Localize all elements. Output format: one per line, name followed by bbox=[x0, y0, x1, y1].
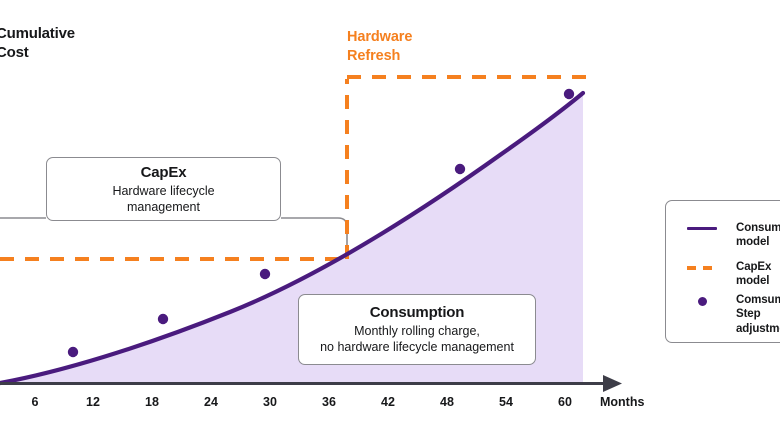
x-tick-label: 30 bbox=[263, 395, 277, 409]
x-tick-label: 18 bbox=[145, 395, 159, 409]
dot-swatch-icon bbox=[684, 293, 726, 309]
step-marker bbox=[158, 314, 168, 324]
capex-callout-subtitle: Hardware lifecycle management bbox=[112, 183, 214, 215]
x-axis-arrow bbox=[603, 375, 622, 392]
chart-canvas: Cumulative Cost Hardware Refresh CapEx H… bbox=[0, 0, 780, 432]
capex-callout: CapEx Hardware lifecycle management bbox=[46, 157, 281, 221]
legend-item-label: CapEx model bbox=[736, 260, 780, 289]
x-tick-label: 48 bbox=[440, 395, 454, 409]
legend-item-capex-model: CapEx model bbox=[684, 260, 780, 289]
consumption-callout-title: Consumption bbox=[370, 304, 464, 321]
hardware-refresh-label: Hardware Refresh bbox=[347, 28, 412, 66]
step-marker bbox=[564, 89, 574, 99]
x-tick-label: 36 bbox=[322, 395, 336, 409]
legend-item-label: Comsumption Step adjustment bbox=[736, 293, 780, 336]
x-tick-label: 42 bbox=[381, 395, 395, 409]
legend-item-step-adjustment: Comsumption Step adjustment bbox=[684, 293, 780, 336]
x-tick-label: 12 bbox=[86, 395, 100, 409]
solid-line-swatch-icon bbox=[684, 221, 726, 237]
consumption-callout-subtitle: Monthly rolling charge, no hardware life… bbox=[320, 323, 514, 355]
x-tick-label: 24 bbox=[204, 395, 218, 409]
consumption-callout: Consumption Monthly rolling charge, no h… bbox=[298, 294, 536, 365]
step-marker bbox=[455, 164, 465, 174]
x-tick-label: 6 bbox=[32, 395, 39, 409]
legend-item-consumption-model: Consumption model bbox=[684, 221, 780, 250]
x-tick-label: 60 bbox=[558, 395, 572, 409]
step-marker bbox=[68, 347, 78, 357]
chart-legend: Consumption model CapEx model Comsumptio… bbox=[665, 200, 780, 343]
step-marker bbox=[260, 269, 270, 279]
x-axis-title: Months bbox=[600, 395, 644, 409]
y-axis-title: Cumulative Cost bbox=[0, 25, 75, 63]
legend-item-label: Consumption model bbox=[736, 221, 780, 250]
capex-connector-right bbox=[281, 218, 347, 252]
capex-callout-title: CapEx bbox=[141, 164, 187, 181]
dashed-line-swatch-icon bbox=[684, 260, 726, 276]
x-tick-label: 54 bbox=[499, 395, 513, 409]
